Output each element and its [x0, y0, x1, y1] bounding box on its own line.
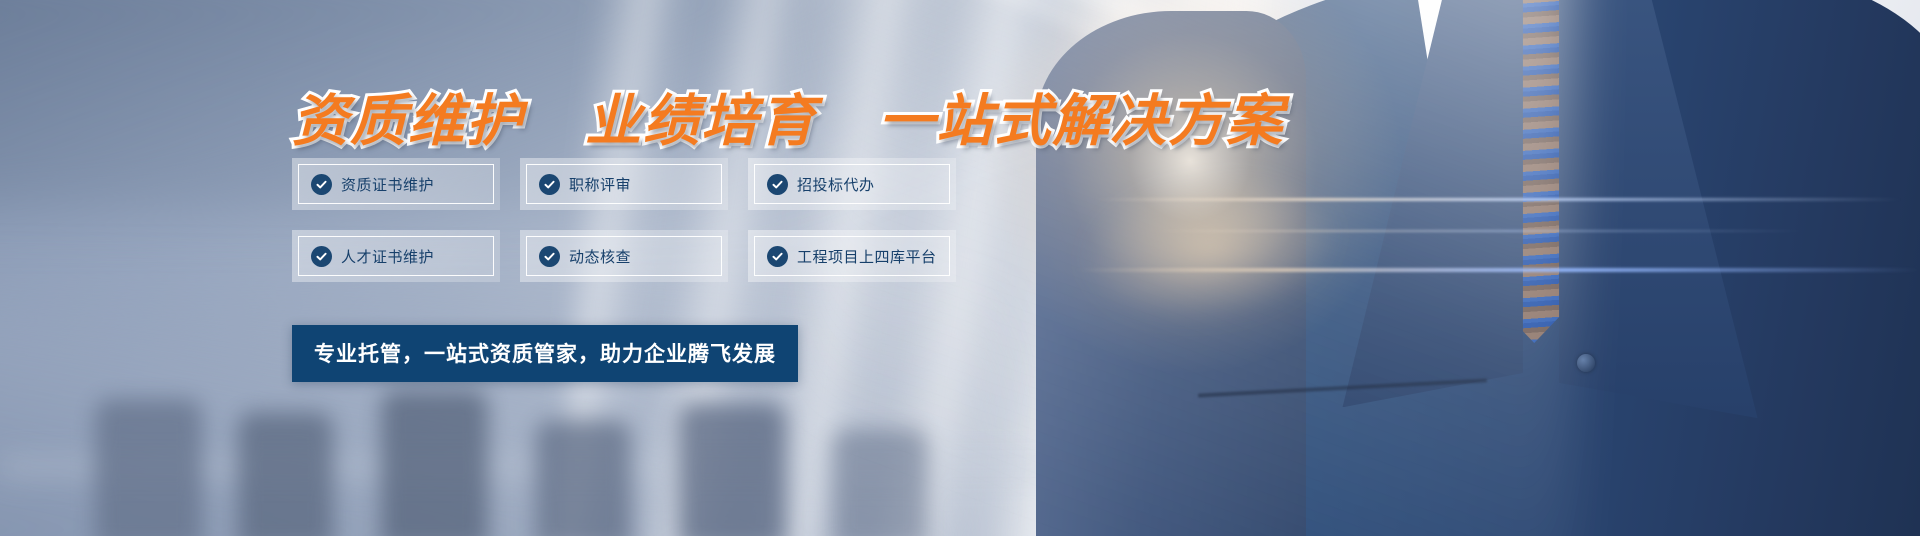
check-circle-icon — [539, 246, 560, 267]
service-card-grid: 资质证书维护 职称评审 招投标代办 — [292, 158, 956, 282]
service-card-four-database-platform[interactable]: 工程项目上四库平台 — [748, 230, 956, 282]
service-card-talent-certificate[interactable]: 人才证书维护 — [292, 230, 500, 282]
headline-segment-2: 业绩培育 — [585, 89, 817, 152]
card-label: 招投标代办 — [797, 174, 875, 195]
promo-banner: 资质维护 业绩培育 一站式解决方案 资质证书维护 — [0, 0, 1920, 536]
card-inner: 动态核查 — [526, 236, 722, 276]
card-label: 动态核查 — [569, 246, 631, 267]
service-card-qualification-certificate[interactable]: 资质证书维护 — [292, 158, 500, 210]
tagline-bar: 专业托管，一站式资质管家，助力企业腾飞发展 — [292, 325, 798, 382]
card-inner: 工程项目上四库平台 — [754, 236, 950, 276]
card-label: 资质证书维护 — [341, 174, 434, 195]
card-inner: 人才证书维护 — [298, 236, 494, 276]
card-label: 工程项目上四库平台 — [797, 246, 937, 267]
check-circle-icon — [311, 246, 332, 267]
check-circle-icon — [311, 174, 332, 195]
card-label: 人才证书维护 — [341, 246, 434, 267]
check-circle-icon — [539, 174, 560, 195]
service-card-bidding-agency[interactable]: 招投标代办 — [748, 158, 956, 210]
banner-headline: 资质维护 业绩培育 一站式解决方案 — [292, 76, 1284, 157]
card-label: 职称评审 — [569, 174, 631, 195]
card-inner: 职称评审 — [526, 164, 722, 204]
headline-segment-1: 资质维护 — [292, 89, 524, 152]
service-card-title-evaluation[interactable]: 职称评审 — [520, 158, 728, 210]
card-inner: 资质证书维护 — [298, 164, 494, 204]
banner-content: 资质维护 业绩培育 一站式解决方案 资质证书维护 — [0, 0, 1920, 536]
card-inner: 招投标代办 — [754, 164, 950, 204]
check-circle-icon — [767, 174, 788, 195]
check-circle-icon — [767, 246, 788, 267]
service-card-dynamic-inspection[interactable]: 动态核查 — [520, 230, 728, 282]
headline-segment-3: 一站式解决方案 — [878, 89, 1284, 152]
